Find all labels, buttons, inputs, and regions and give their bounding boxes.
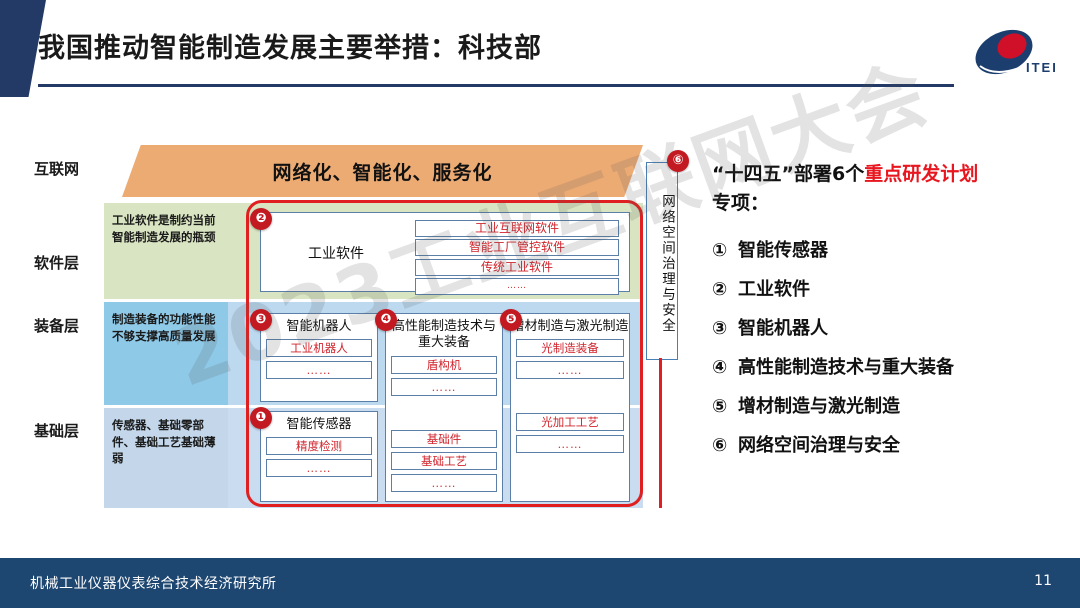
badge-5-icon: ❺ (500, 309, 522, 331)
internet-banner-text: 网络化、智能化、服务化 (122, 158, 643, 185)
footer-page-number: 11 (1034, 573, 1052, 589)
industrial-software-items: 工业互联网软件 智能工厂管控软件 传统工业软件 …… (413, 217, 621, 298)
footer-bar: 机械工业仪器仪表综合技术经济研究所 11 (0, 558, 1080, 608)
layer-label-internet: 互联网 (34, 158, 118, 179)
header-divider (38, 84, 954, 87)
chip-precision-detection[interactable]: 精度检测 (266, 437, 372, 455)
chip-optical-manufacturing-equipment[interactable]: 光制造装备 (516, 339, 624, 357)
footer-organization: 机械工业仪器仪表综合技术经济研究所 (30, 573, 277, 593)
chip-basic-process[interactable]: 基础工艺 (391, 452, 497, 470)
list-item-label: 网络空间治理与安全 (738, 435, 900, 456)
list-item[interactable]: ④高性能制造技术与重大装备 (712, 353, 1070, 379)
description-foundation: 传感器、基础零部件、基础工艺基础薄弱 (104, 408, 228, 508)
card-title-industrial-software: 工业软件 (271, 243, 401, 263)
list-item[interactable]: ⑤增材制造与激光制造 (712, 392, 1070, 418)
heading-part-1: “十四五”部署6个 (712, 163, 864, 185)
right-panel-heading: “十四五”部署6个重点研发计划 专项： (712, 160, 1070, 217)
list-item-label: 增材制造与激光制造 (738, 396, 900, 417)
card-additive-laser-manufacturing[interactable]: 增材制造与激光制造 光制造装备 …… 光加工工艺 …… (510, 313, 630, 502)
list-item-number: ⑤ (712, 396, 738, 417)
card-smart-sensor[interactable]: 智能传感器 精度检测 …… (260, 411, 378, 502)
badge-4-icon: ❹ (375, 309, 397, 331)
chip-industrial-internet-software[interactable]: 工业互联网软件 (415, 220, 619, 237)
list-item-number: ⑥ (712, 435, 738, 456)
badge-2-icon: ❷ (250, 208, 272, 230)
list-item[interactable]: ⑥网络空间治理与安全 (712, 431, 1070, 457)
card-spacer (511, 383, 629, 409)
list-item-number: ③ (712, 318, 738, 339)
chip-smart-factory-control-software[interactable]: 智能工厂管控软件 (415, 239, 619, 256)
card-cyberspace-governance[interactable]: 网络空间治理与安全 (646, 162, 678, 360)
card-high-performance-manufacturing[interactable]: 高性能制造技术与重大装备 盾构机 …… 基础件 基础工艺 …… (385, 313, 503, 502)
logo-text: ITEI (1026, 60, 1058, 75)
list-item-number: ② (712, 279, 738, 300)
list-item-label: 工业软件 (738, 279, 810, 300)
chip-more-basic[interactable]: …… (391, 474, 497, 492)
list-item-number: ① (712, 240, 738, 261)
card-title-smart-sensor: 智能传感器 (261, 412, 377, 433)
heading-part-2: 专项： (712, 192, 769, 214)
description-equipment: 制造装备的功能性能不够支撑高质量发展 (104, 302, 228, 405)
description-software: 工业软件是制约当前智能制造发展的瓶颈 (104, 203, 228, 299)
chip-basic-components[interactable]: 基础件 (391, 430, 497, 448)
slide-canvas: 我国推动智能制造发展主要举措：科技部 ITEI 互联网 软件层 装备层 基础层 … (0, 0, 1080, 608)
badge-1-icon: ❶ (250, 407, 272, 429)
list-item-label: 智能机器人 (738, 318, 828, 339)
chip-more-sensor[interactable]: …… (266, 459, 372, 477)
card-title-intelligent-robot: 智能机器人 (261, 314, 377, 335)
chip-optical-processing-technology[interactable]: 光加工工艺 (516, 413, 624, 431)
list-item[interactable]: ①智能传感器 (712, 236, 1070, 262)
page-title: 我国推动智能制造发展主要举措：科技部 (38, 26, 542, 65)
chip-more-software[interactable]: …… (415, 278, 619, 295)
card-title-high-performance-manufacturing: 高性能制造技术与重大装备 (386, 314, 502, 352)
cyber-connector-line (659, 358, 662, 508)
list-item[interactable]: ②工业软件 (712, 275, 1070, 301)
chip-traditional-industrial-software[interactable]: 传统工业软件 (415, 259, 619, 276)
heading-highlight: 重点研发计划 (864, 163, 978, 185)
chip-more-robot[interactable]: …… (266, 361, 372, 379)
card-industrial-software[interactable]: 工业软件 工业互联网软件 智能工厂管控软件 传统工业软件 …… (260, 212, 630, 292)
card-spacer (386, 400, 502, 426)
chip-shield-tunneling-machine[interactable]: 盾构机 (391, 356, 497, 374)
card-intelligent-robot[interactable]: 智能机器人 工业机器人 …… (260, 313, 378, 402)
chip-more-optical[interactable]: …… (516, 435, 624, 453)
chip-more-equipment[interactable]: …… (391, 378, 497, 396)
itei-logo: ITEI (966, 26, 1058, 82)
badge-6-icon: ⑥ (667, 150, 689, 172)
badge-3-icon: ❸ (250, 309, 272, 331)
card-title-additive-laser-manufacturing: 增材制造与激光制造 (511, 314, 629, 335)
list-item-number: ④ (712, 357, 738, 378)
list-item-label: 高性能制造技术与重大装备 (738, 357, 954, 378)
list-item[interactable]: ③智能机器人 (712, 314, 1070, 340)
list-item-label: 智能传感器 (738, 240, 828, 261)
special-projects-list: ①智能传感器 ②工业软件 ③智能机器人 ④高性能制造技术与重大装备 ⑤增材制造与… (712, 236, 1070, 470)
chip-more-additive[interactable]: …… (516, 361, 624, 379)
chip-industrial-robot[interactable]: 工业机器人 (266, 339, 372, 357)
